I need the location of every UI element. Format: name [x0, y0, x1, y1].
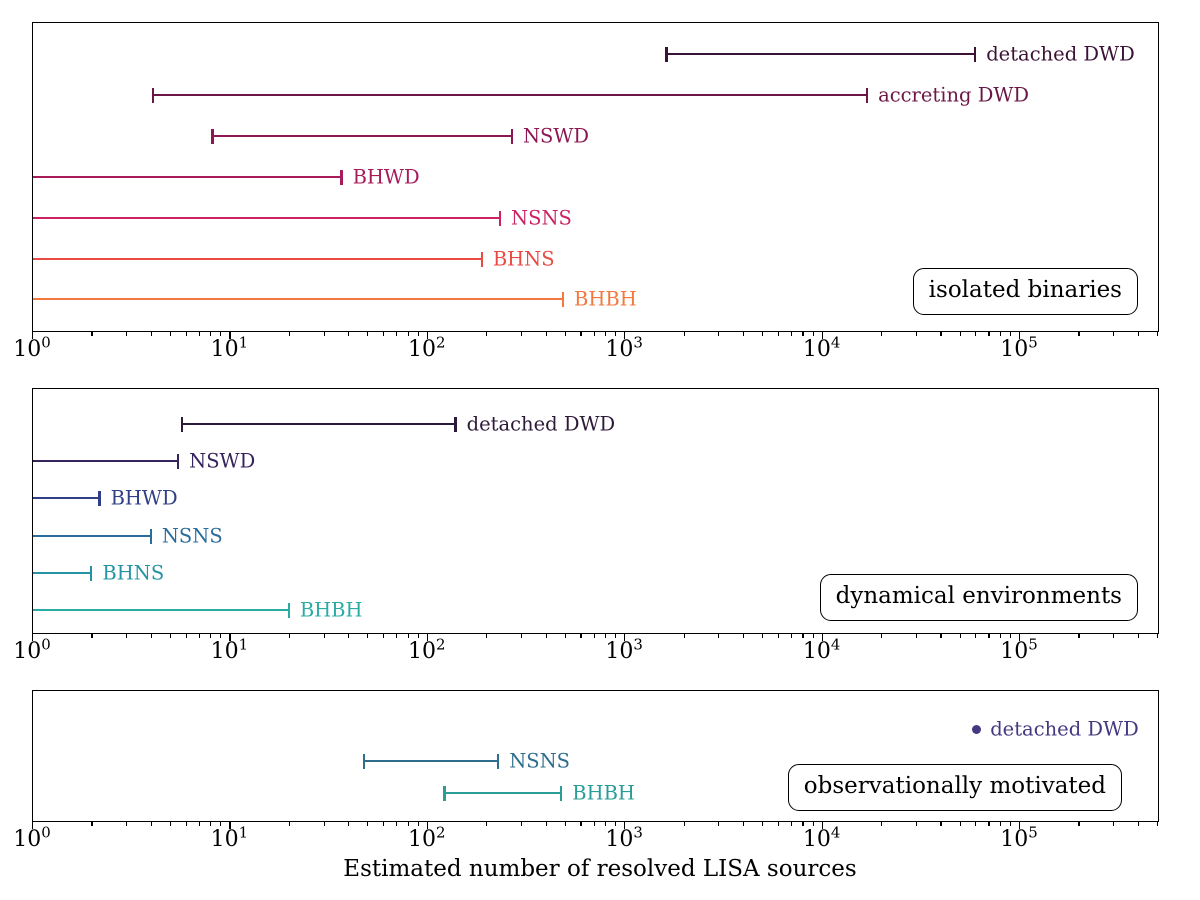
- x-tick-minor: [1138, 332, 1139, 336]
- x-tick-minor: [791, 332, 792, 336]
- x-tick-label: 101: [211, 641, 249, 663]
- x-tick-minor: [605, 332, 606, 336]
- x-tick-minor: [940, 332, 941, 336]
- x-tick-minor: [615, 822, 616, 826]
- x-tick-minor: [1138, 822, 1139, 826]
- annotation-observationally-motivated: observationally motivated: [788, 764, 1122, 811]
- series-label: NSWD: [523, 126, 589, 146]
- x-tick-minor: [718, 332, 719, 336]
- x-tick-minor: [881, 822, 882, 826]
- range-line: [181, 423, 457, 425]
- x-tick-label: 104: [803, 829, 841, 851]
- annotation-dynamical-environments: dynamical environments: [820, 574, 1138, 621]
- x-tick-minor: [718, 634, 719, 638]
- x-tick-minor: [594, 332, 595, 336]
- lisa-source-count-figure: detached DWDaccreting DWDNSWDBHWDNSNSBHN…: [0, 0, 1200, 900]
- x-tick-minor: [791, 634, 792, 638]
- x-tick-minor: [486, 822, 487, 826]
- series-label: BHNS: [102, 563, 164, 583]
- x-axis-panel-3: 100101102103104105: [32, 822, 1159, 852]
- x-tick-minor: [91, 634, 92, 638]
- range-cap-high: [98, 491, 100, 506]
- x-tick-minor: [521, 332, 522, 336]
- x-tick-minor: [580, 332, 581, 336]
- x-tick-label: 101: [211, 339, 249, 361]
- x-tick-label: 100: [13, 641, 51, 663]
- range-cap-high: [499, 211, 501, 226]
- x-tick-minor: [743, 332, 744, 336]
- range-line: [33, 298, 564, 300]
- x-tick-label: 103: [605, 641, 643, 663]
- x-tick-minor: [813, 332, 814, 336]
- range-line: [33, 460, 179, 462]
- x-tick-minor: [565, 634, 566, 638]
- x-tick-minor: [367, 634, 368, 638]
- panel-isolated-binaries: detached DWDaccreting DWDNSWDBHWDNSNSBHN…: [32, 22, 1159, 332]
- x-tick-minor: [289, 332, 290, 336]
- range-cap-high: [340, 170, 342, 185]
- x-tick-minor: [778, 634, 779, 638]
- series-label: detached DWD: [467, 414, 616, 434]
- x-tick-minor: [615, 634, 616, 638]
- range-cap-high: [497, 754, 499, 769]
- x-tick-minor: [684, 332, 685, 336]
- x-tick-minor: [486, 332, 487, 336]
- x-tick-minor: [916, 634, 917, 638]
- x-tick-minor: [91, 332, 92, 336]
- x-tick-minor: [348, 822, 349, 826]
- x-tick-minor: [743, 822, 744, 826]
- x-tick-minor: [348, 634, 349, 638]
- range-line: [33, 497, 101, 499]
- range-line: [33, 609, 290, 611]
- range-cap-high: [90, 566, 92, 581]
- x-tick-label: 101: [211, 829, 249, 851]
- x-tick-label: 100: [13, 829, 51, 851]
- range-cap-high: [177, 454, 179, 469]
- x-tick-minor: [383, 332, 384, 336]
- range-cap-low: [211, 129, 213, 144]
- x-tick-minor: [383, 634, 384, 638]
- x-tick-minor: [396, 332, 397, 336]
- range-cap-high: [150, 529, 152, 544]
- x-tick-minor: [289, 822, 290, 826]
- x-tick-minor: [418, 634, 419, 638]
- x-tick-minor: [684, 634, 685, 638]
- x-tick-minor: [126, 634, 127, 638]
- panel-dynamical-environments: detached DWDNSWDBHWDNSNSBHNSBHBH dynamic…: [32, 388, 1159, 634]
- x-tick-minor: [778, 822, 779, 826]
- x-tick-minor: [1113, 332, 1114, 336]
- x-tick-minor: [940, 634, 941, 638]
- x-tick-minor: [940, 822, 941, 826]
- x-tick-minor: [762, 634, 763, 638]
- annotation-isolated-binaries: isolated binaries: [913, 268, 1138, 315]
- x-tick-minor: [813, 634, 814, 638]
- range-line: [33, 217, 501, 219]
- x-tick-minor: [324, 634, 325, 638]
- x-tick-minor: [975, 332, 976, 336]
- x-tick-minor: [1157, 822, 1158, 826]
- range-cap-high: [560, 786, 562, 801]
- x-tick-minor: [881, 332, 882, 336]
- x-tick-minor: [1157, 332, 1158, 336]
- x-tick-minor: [1078, 634, 1079, 638]
- range-line: [443, 792, 562, 794]
- range-line: [363, 760, 499, 762]
- x-tick-minor: [126, 822, 127, 826]
- x-tick-minor: [916, 332, 917, 336]
- series-label: accreting DWD: [878, 85, 1029, 105]
- series-label: NSNS: [509, 751, 570, 771]
- x-tick-minor: [718, 822, 719, 826]
- x-tick-minor: [151, 332, 152, 336]
- x-tick-minor: [988, 822, 989, 826]
- x-tick-minor: [791, 822, 792, 826]
- x-tick-minor: [580, 634, 581, 638]
- x-tick-minor: [408, 332, 409, 336]
- range-cap-low: [152, 88, 154, 103]
- x-tick-minor: [199, 332, 200, 336]
- series-label: NSNS: [162, 526, 223, 546]
- x-tick-minor: [170, 634, 171, 638]
- x-tick-minor: [1000, 634, 1001, 638]
- series-label: NSNS: [511, 208, 572, 228]
- marker-dot-icon: [972, 725, 981, 734]
- x-tick-minor: [408, 822, 409, 826]
- x-tick-minor: [778, 332, 779, 336]
- x-tick-minor: [605, 634, 606, 638]
- range-cap-low: [181, 417, 183, 432]
- series-label: BHWD: [353, 167, 420, 187]
- range-line: [665, 53, 976, 55]
- x-tick-minor: [91, 822, 92, 826]
- x-tick-minor: [289, 634, 290, 638]
- x-tick-minor: [210, 822, 211, 826]
- x-tick-minor: [521, 634, 522, 638]
- range-cap-high: [562, 292, 564, 307]
- panel-observationally-motivated: detached DWDNSNSBHBH observationally mot…: [32, 690, 1159, 822]
- series-label: BHBH: [300, 600, 363, 620]
- x-tick-minor: [743, 634, 744, 638]
- x-tick-minor: [960, 822, 961, 826]
- x-tick-minor: [960, 332, 961, 336]
- x-tick-minor: [418, 822, 419, 826]
- x-tick-minor: [1113, 634, 1114, 638]
- series-label: BHWD: [111, 488, 178, 508]
- x-tick-minor: [1157, 634, 1158, 638]
- x-tick-minor: [802, 822, 803, 826]
- x-tick-minor: [186, 634, 187, 638]
- x-tick-minor: [199, 822, 200, 826]
- x-tick-minor: [762, 332, 763, 336]
- x-tick-minor: [802, 634, 803, 638]
- range-cap-high: [481, 252, 483, 267]
- x-tick-minor: [418, 332, 419, 336]
- x-tick-label: 105: [1000, 829, 1038, 851]
- x-tick-label: 103: [605, 339, 643, 361]
- x-tick-minor: [1078, 332, 1079, 336]
- range-cap-high: [866, 88, 868, 103]
- x-tick-minor: [210, 332, 211, 336]
- range-cap-high: [288, 603, 290, 618]
- x-tick-minor: [1010, 822, 1011, 826]
- x-tick-minor: [565, 822, 566, 826]
- x-tick-minor: [605, 822, 606, 826]
- x-tick-minor: [383, 822, 384, 826]
- x-tick-minor: [684, 822, 685, 826]
- range-cap-low: [665, 47, 667, 62]
- x-tick-minor: [186, 332, 187, 336]
- x-tick-minor: [546, 634, 547, 638]
- x-tick-minor: [975, 634, 976, 638]
- x-tick-minor: [1000, 822, 1001, 826]
- x-tick-label: 100: [13, 339, 51, 361]
- x-tick-minor: [1113, 822, 1114, 826]
- x-tick-minor: [186, 822, 187, 826]
- range-cap-low: [443, 786, 445, 801]
- range-line: [33, 535, 152, 537]
- x-tick-minor: [594, 822, 595, 826]
- x-tick-minor: [1010, 634, 1011, 638]
- x-tick-minor: [813, 822, 814, 826]
- x-tick-minor: [151, 634, 152, 638]
- x-tick-minor: [210, 634, 211, 638]
- series-label: BHBH: [572, 783, 635, 803]
- series-label: BHNS: [493, 249, 555, 269]
- range-cap-high: [511, 129, 513, 144]
- series-label: detached DWD: [986, 44, 1135, 64]
- x-tick-minor: [396, 822, 397, 826]
- x-tick-minor: [486, 634, 487, 638]
- x-axis-panel-2: 100101102103104105: [32, 634, 1159, 664]
- x-tick-minor: [988, 634, 989, 638]
- range-line: [33, 176, 343, 178]
- x-tick-label: 102: [408, 829, 446, 851]
- x-tick-minor: [1078, 822, 1079, 826]
- x-tick-minor: [220, 634, 221, 638]
- x-tick-minor: [396, 634, 397, 638]
- series-label: NSWD: [189, 451, 255, 471]
- x-tick-minor: [220, 332, 221, 336]
- x-tick-minor: [881, 634, 882, 638]
- range-line: [33, 572, 92, 574]
- x-tick-minor: [975, 822, 976, 826]
- x-tick-minor: [546, 332, 547, 336]
- range-line: [211, 135, 513, 137]
- x-tick-minor: [408, 634, 409, 638]
- x-tick-minor: [151, 822, 152, 826]
- series-label: BHBH: [574, 289, 637, 309]
- x-tick-minor: [126, 332, 127, 336]
- x-tick-minor: [580, 822, 581, 826]
- x-tick-minor: [594, 634, 595, 638]
- x-tick-label: 105: [1000, 339, 1038, 361]
- x-tick-minor: [220, 822, 221, 826]
- series-label: detached DWD: [990, 719, 1139, 739]
- range-line: [152, 94, 868, 96]
- x-tick-minor: [367, 332, 368, 336]
- x-tick-minor: [762, 822, 763, 826]
- x-tick-minor: [565, 332, 566, 336]
- range-cap-high: [974, 47, 976, 62]
- x-tick-minor: [367, 822, 368, 826]
- x-tick-minor: [960, 634, 961, 638]
- x-axis-panel-1: 100101102103104105: [32, 332, 1159, 362]
- x-tick-label: 104: [803, 339, 841, 361]
- x-tick-minor: [199, 634, 200, 638]
- x-tick-label: 102: [408, 339, 446, 361]
- x-tick-label: 103: [605, 829, 643, 851]
- x-tick-label: 104: [803, 641, 841, 663]
- x-tick-minor: [802, 332, 803, 336]
- x-tick-minor: [348, 332, 349, 336]
- x-tick-minor: [615, 332, 616, 336]
- range-cap-high: [454, 417, 456, 432]
- x-tick-minor: [546, 822, 547, 826]
- x-tick-minor: [988, 332, 989, 336]
- x-tick-minor: [1138, 634, 1139, 638]
- x-tick-minor: [324, 822, 325, 826]
- x-tick-minor: [916, 822, 917, 826]
- x-tick-label: 102: [408, 641, 446, 663]
- range-cap-low: [363, 754, 365, 769]
- x-tick-label: 105: [1000, 641, 1038, 663]
- x-tick-minor: [170, 822, 171, 826]
- x-tick-minor: [1010, 332, 1011, 336]
- x-tick-minor: [324, 332, 325, 336]
- range-line: [33, 258, 483, 260]
- x-tick-minor: [521, 822, 522, 826]
- x-axis-label: Estimated number of resolved LISA source…: [0, 858, 1200, 881]
- x-tick-minor: [170, 332, 171, 336]
- x-tick-minor: [1000, 332, 1001, 336]
